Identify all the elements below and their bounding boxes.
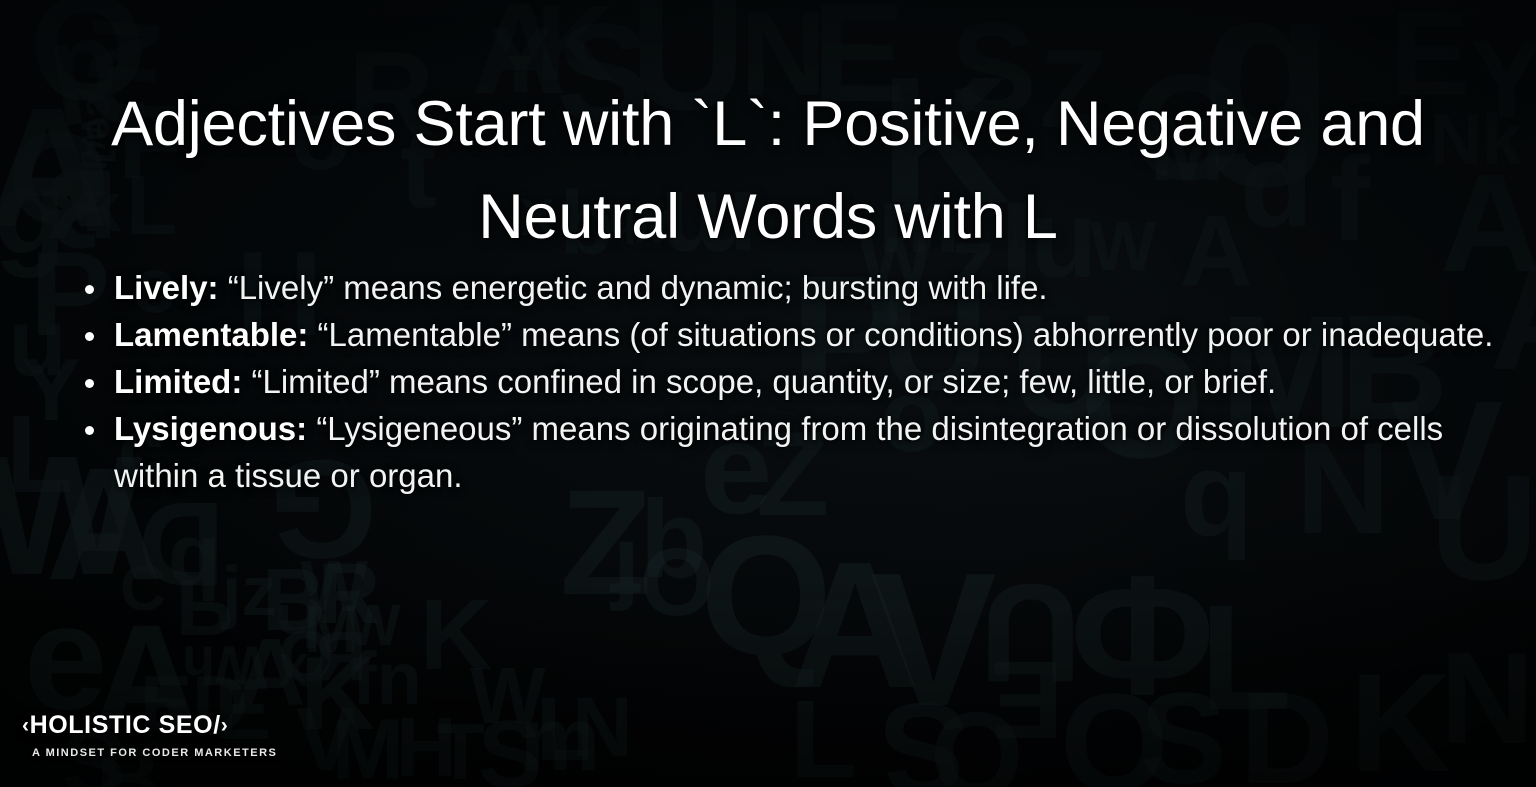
definition-text: “Lamentable” means (of situations or con…: [318, 316, 1494, 353]
definition-text: “Limited” means confined in scope, quant…: [252, 363, 1277, 400]
definition-term: Lively:: [114, 269, 219, 306]
page-title: Adjectives Start with `L`: Positive, Neg…: [8, 78, 1528, 264]
definition-text: “Lysigeneous” means originating from the…: [114, 410, 1443, 494]
logo-tagline: A MINDSET FOR CODER MARKETERS: [32, 747, 277, 759]
definition-list: Lively: “Lively” means energetic and dyn…: [76, 264, 1496, 499]
definition-term: Lamentable:: [114, 316, 308, 353]
logo-wordmark: ‹HOLISTIC SEO/›: [22, 711, 277, 740]
list-item: Limited: “Limited” means confined in sco…: [76, 358, 1496, 405]
title-line-2: Neutral Words with L: [478, 182, 1058, 252]
chevron-left-icon: ‹: [22, 714, 30, 737]
definition-term: Lysigenous:: [114, 410, 307, 447]
title-line-1: Adjectives Start with `L`: Positive, Neg…: [111, 89, 1425, 159]
slide-canvas: QdNAQFceJWdaHgЯkLPcuYLcWADbЬeAGWWhjzBRЧM…: [0, 0, 1536, 787]
slide-content: Adjectives Start with `L`: Positive, Neg…: [0, 0, 1536, 787]
list-item: Lively: “Lively” means energetic and dyn…: [76, 264, 1496, 311]
definition-text: “Lively” means energetic and dynamic; bu…: [228, 269, 1048, 306]
definition-term: Limited:: [114, 363, 242, 400]
chevron-right-icon: ›: [221, 714, 229, 737]
list-item: Lysigenous: “Lysigeneous” means originat…: [76, 405, 1496, 499]
brand-logo[interactable]: ‹HOLISTIC SEO/› A MINDSET FOR CODER MARK…: [22, 711, 277, 759]
logo-text: HOLISTIC SEO/: [30, 711, 221, 739]
list-item: Lamentable: “Lamentable” means (of situa…: [76, 311, 1496, 358]
